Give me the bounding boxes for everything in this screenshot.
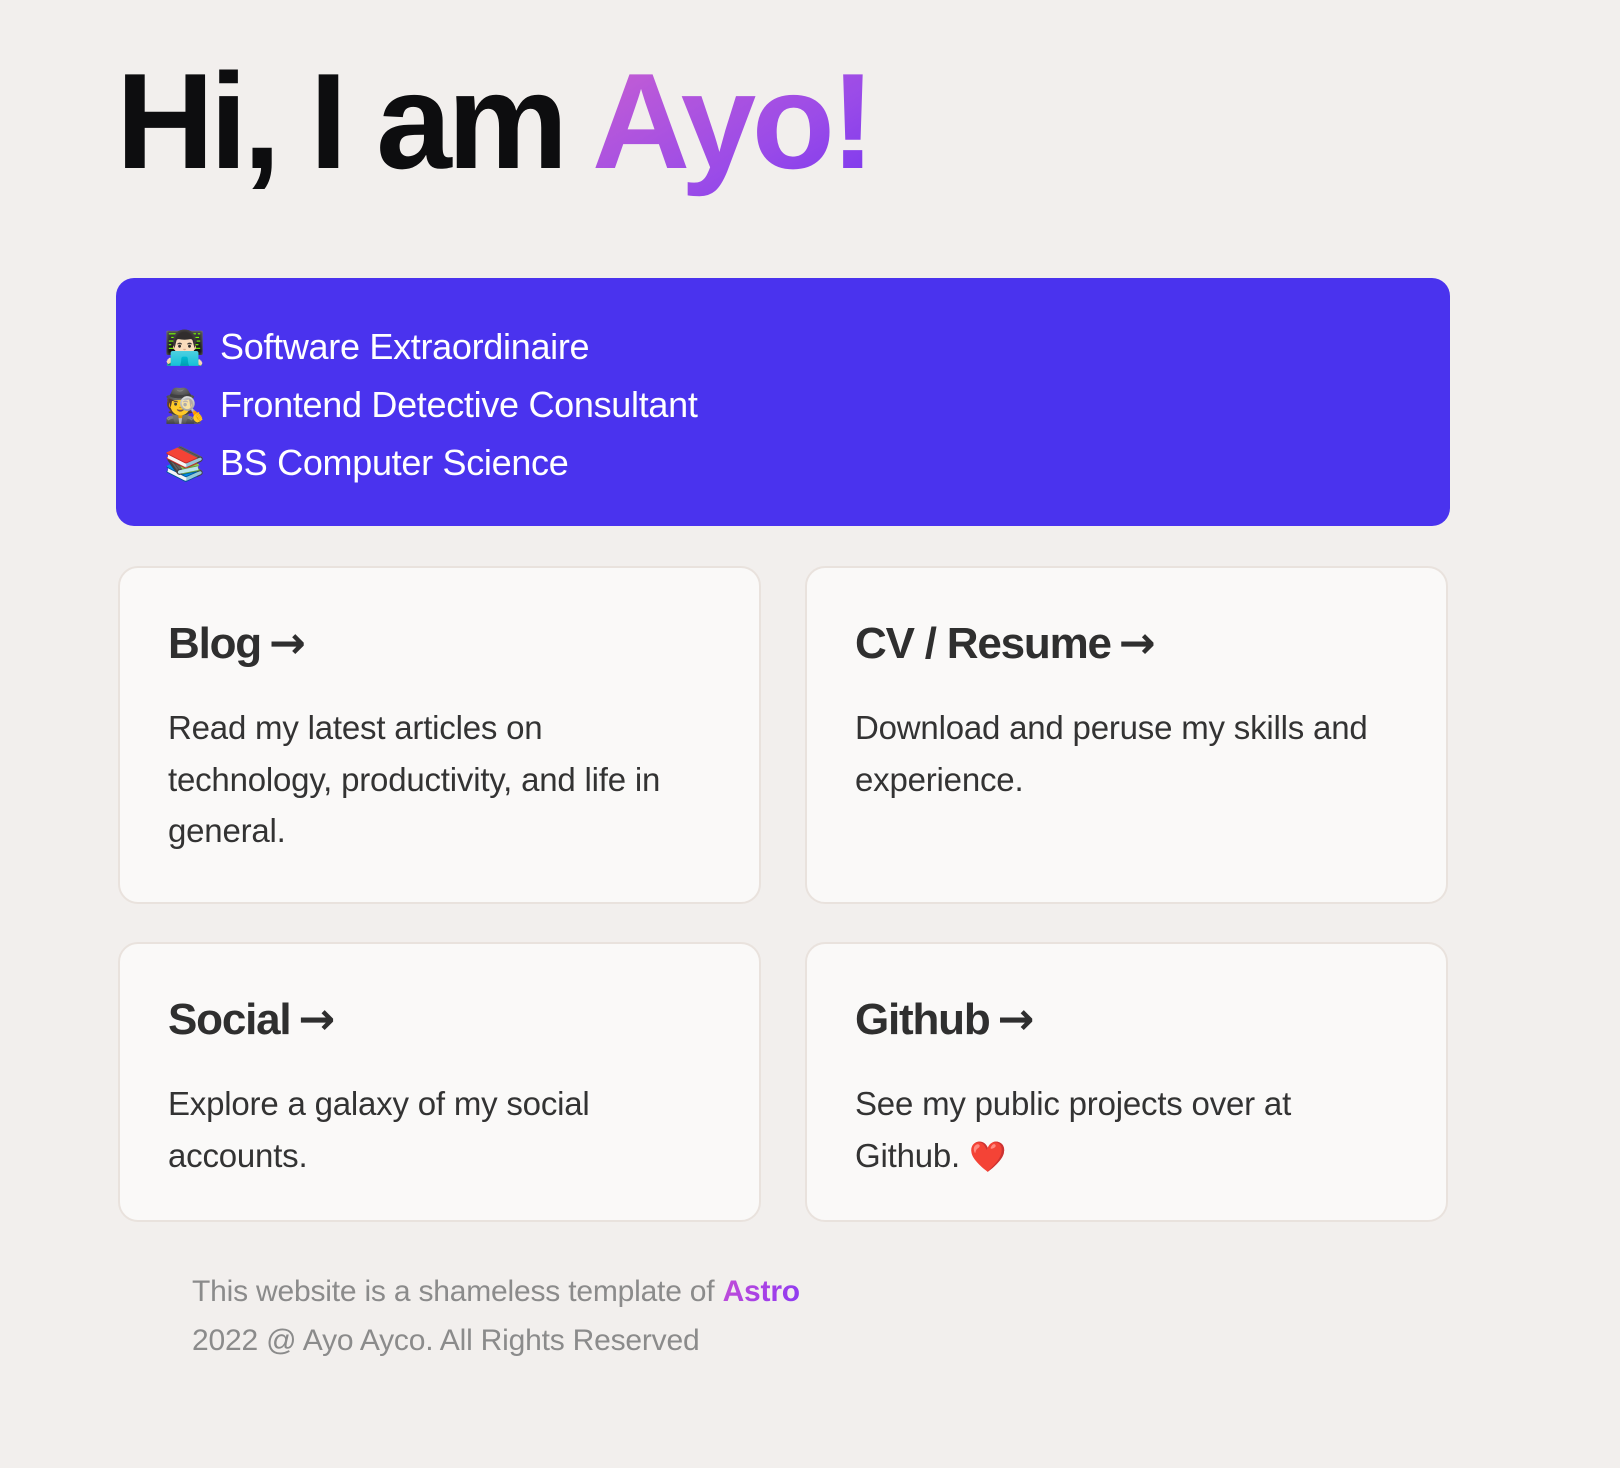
arrow-right-icon: →: [998, 994, 1034, 1045]
card-title-text: Blog: [168, 619, 261, 668]
card-description: Download and peruse my skills and experi…: [855, 702, 1400, 805]
hero-section: Hi, I am Ayo!: [116, 48, 1456, 195]
list-item: 👨🏻‍💻 Software Extraordinaire: [164, 318, 1450, 376]
hero-greeting: Hi, I am: [116, 45, 592, 197]
card-cv-resume[interactable]: CV / Resume→ Download and peruse my skil…: [805, 566, 1448, 904]
role-label: BS Computer Science: [220, 445, 568, 481]
card-github[interactable]: Github→ See my public projects over at G…: [805, 942, 1448, 1222]
list-item: 🕵️ Frontend Detective Consultant: [164, 376, 1450, 434]
list-item: 📚 BS Computer Science: [164, 434, 1450, 492]
card-description: See my public projects over at Github. ❤…: [855, 1078, 1400, 1181]
card-blog[interactable]: Blog→ Read my latest articles on technol…: [118, 566, 761, 904]
roles-banner: 👨🏻‍💻 Software Extraordinaire 🕵️ Frontend…: [116, 278, 1450, 526]
arrow-right-icon: →: [269, 618, 305, 669]
card-social[interactable]: Social→ Explore a galaxy of my social ac…: [118, 942, 761, 1222]
page-root: Hi, I am Ayo! 👨🏻‍💻 Software Extraordinai…: [0, 0, 1620, 1468]
card-title-text: Github: [855, 995, 990, 1044]
books-emoji: 📚: [164, 447, 204, 480]
card-title-text: Social: [168, 995, 290, 1044]
arrow-right-icon: →: [298, 994, 334, 1045]
hero-name-accent: Ayo!: [592, 45, 871, 197]
card-title-text: CV / Resume: [855, 619, 1111, 668]
link-card-grid: Blog→ Read my latest articles on technol…: [118, 566, 1448, 1222]
footer: This website is a shameless template of …: [192, 1268, 800, 1365]
roles-list: 👨🏻‍💻 Software Extraordinaire 🕵️ Frontend…: [164, 318, 1450, 492]
astro-link[interactable]: Astro: [723, 1275, 800, 1308]
card-description: Read my latest articles on technology, p…: [168, 702, 713, 856]
card-title: Social→: [168, 996, 715, 1044]
arrow-right-icon: →: [1119, 618, 1155, 669]
card-description-text: See my public projects over at Github.: [855, 1085, 1291, 1173]
card-title: CV / Resume→: [855, 620, 1402, 668]
footer-copyright: 2022 @ Ayo Ayco. All Rights Reserved: [192, 1317, 800, 1366]
card-title: Github→: [855, 996, 1402, 1044]
card-title: Blog→: [168, 620, 715, 668]
role-label: Frontend Detective Consultant: [220, 387, 698, 423]
page-title: Hi, I am Ayo!: [116, 48, 1456, 195]
card-description: Explore a galaxy of my social accounts.: [168, 1078, 713, 1181]
footer-credit-text: This website is a shameless template of: [192, 1275, 723, 1308]
role-label: Software Extraordinaire: [220, 329, 589, 365]
red-heart-emoji: ❤️: [969, 1140, 1006, 1175]
detective-emoji: 🕵️: [164, 389, 204, 422]
man-technologist-emoji: 👨🏻‍💻: [164, 331, 204, 364]
footer-credit-line: This website is a shameless template of …: [192, 1268, 800, 1317]
